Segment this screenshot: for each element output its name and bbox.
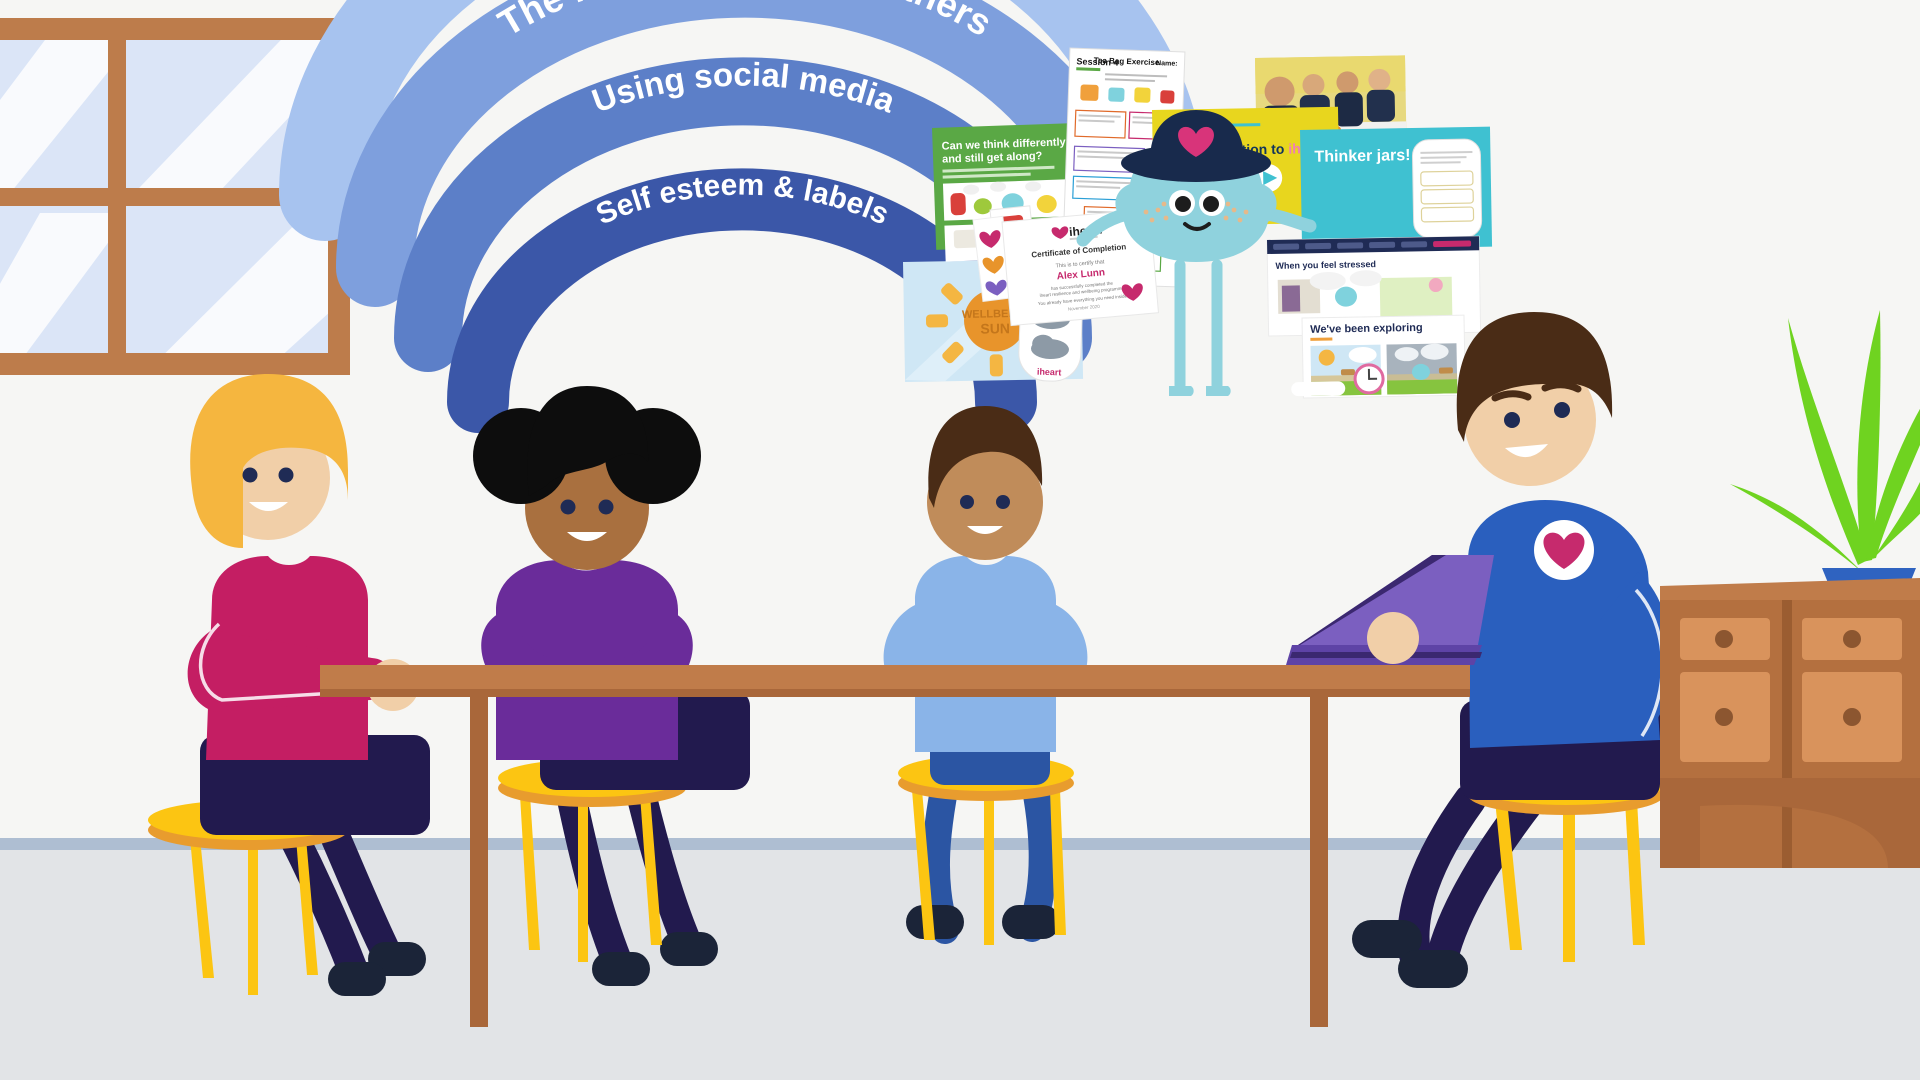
wooden-sideboard[interactable] xyxy=(1660,578,1920,868)
table-leg-left xyxy=(470,697,488,1027)
drawer-knob-4[interactable] xyxy=(1843,708,1861,726)
teacher-badge xyxy=(1534,520,1594,580)
table-leg-right xyxy=(1310,697,1328,1027)
drawer-knob-1[interactable] xyxy=(1715,630,1733,648)
sideboard-divider xyxy=(1782,600,1792,868)
exploring-scene-right xyxy=(1386,343,1457,394)
exploring-clock xyxy=(1355,365,1383,393)
mascot-foot-right xyxy=(1206,386,1231,396)
poster-cloud-strip-brand: iheart xyxy=(1037,367,1062,378)
intro-divider xyxy=(1230,123,1260,127)
mascot-foot-left xyxy=(1169,386,1194,396)
teacher-hand xyxy=(1367,612,1419,664)
thinker-jars-title: Thinker jars! xyxy=(1314,147,1410,166)
when-you-feel-title: When you feel stressed xyxy=(1275,259,1376,271)
worksheet-name-field: Name: xyxy=(1156,60,1178,68)
classroom-illustration: Disagreements & conflict The bad behavio… xyxy=(0,0,1920,1080)
poster-wellbeing-sun-title-2: SUN xyxy=(980,320,1010,337)
poster-weve-been-exploring[interactable]: We've been exploring xyxy=(1290,315,1465,398)
scene-svg: Disagreements & conflict The bad behavio… xyxy=(0,0,1920,1080)
drawer-knob-3[interactable] xyxy=(1843,630,1861,648)
poster-thinker-jars[interactable]: Thinker jars! #3fc1d1 xyxy=(1300,114,1492,250)
drawer-knob-2[interactable] xyxy=(1715,708,1733,726)
exploring-title: We've been exploring xyxy=(1310,322,1423,336)
table-top-shade xyxy=(320,689,1470,697)
exploring-caption xyxy=(1291,381,1345,396)
exploring-accent xyxy=(1310,337,1332,340)
